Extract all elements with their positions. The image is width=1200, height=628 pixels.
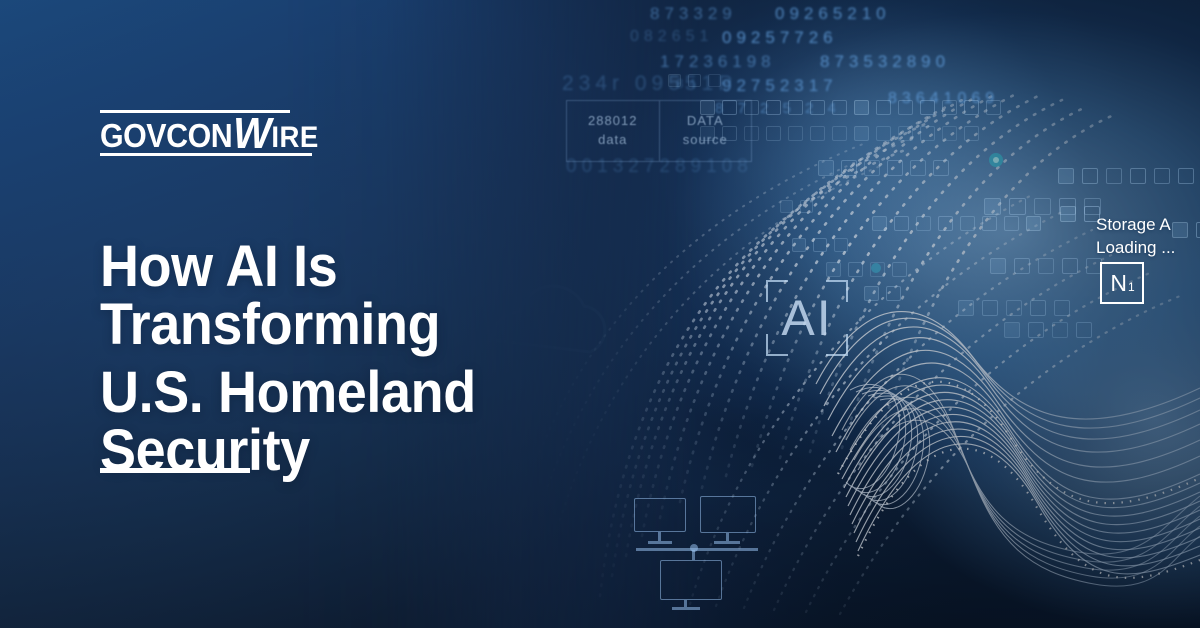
logo-wordmark: GOVCONWIRE (100, 114, 319, 156)
monitor-base-1 (648, 541, 672, 544)
headline-line-2: U.S. Homeland Security (100, 364, 602, 480)
headline-line-1: How AI Is Transforming (100, 234, 440, 357)
data-table-right-bottom: source (683, 131, 728, 150)
monitor-base-2 (714, 541, 740, 544)
monitor-icon-2 (700, 496, 756, 533)
node-subscript: 1 (1128, 280, 1135, 294)
data-table-cell-right: DATA source (659, 101, 752, 161)
monitor-icon-1 (634, 498, 686, 532)
text-content-area: GOVCONWIRE How AI Is Transforming U.S. H… (0, 0, 640, 628)
storage-status-text: Storage A Loading ... (1096, 214, 1175, 260)
ai-badge-label: AI (766, 280, 848, 356)
monitor-stand-2 (726, 533, 729, 541)
storage-label: Storage A (1096, 214, 1175, 237)
node-badge: N1 (1100, 262, 1144, 304)
loading-label: Loading ... (1096, 237, 1175, 260)
logo-text-ire: IRE (271, 119, 318, 156)
logo-rule-bottom (100, 153, 312, 156)
title-underline-rule (100, 468, 250, 473)
article-share-banner: 8733290926521008265109257726172361988735… (0, 0, 1200, 628)
network-monitors-icon (634, 498, 766, 586)
monitor-stand-3b (684, 600, 687, 607)
monitor-base-3 (672, 607, 700, 610)
node-label: N (1110, 270, 1127, 297)
page-title: How AI Is Transforming U.S. Homeland Sec… (100, 238, 602, 480)
monitor-icon-3 (660, 560, 722, 600)
data-table-right-top: DATA (687, 112, 724, 131)
monitor-stand-3 (692, 550, 695, 560)
logo-text-w: W (232, 115, 271, 152)
monitor-stand-1 (658, 532, 661, 541)
ai-badge-frame: AI (766, 280, 848, 356)
logo-text-govcon: GOVCON (100, 117, 232, 154)
